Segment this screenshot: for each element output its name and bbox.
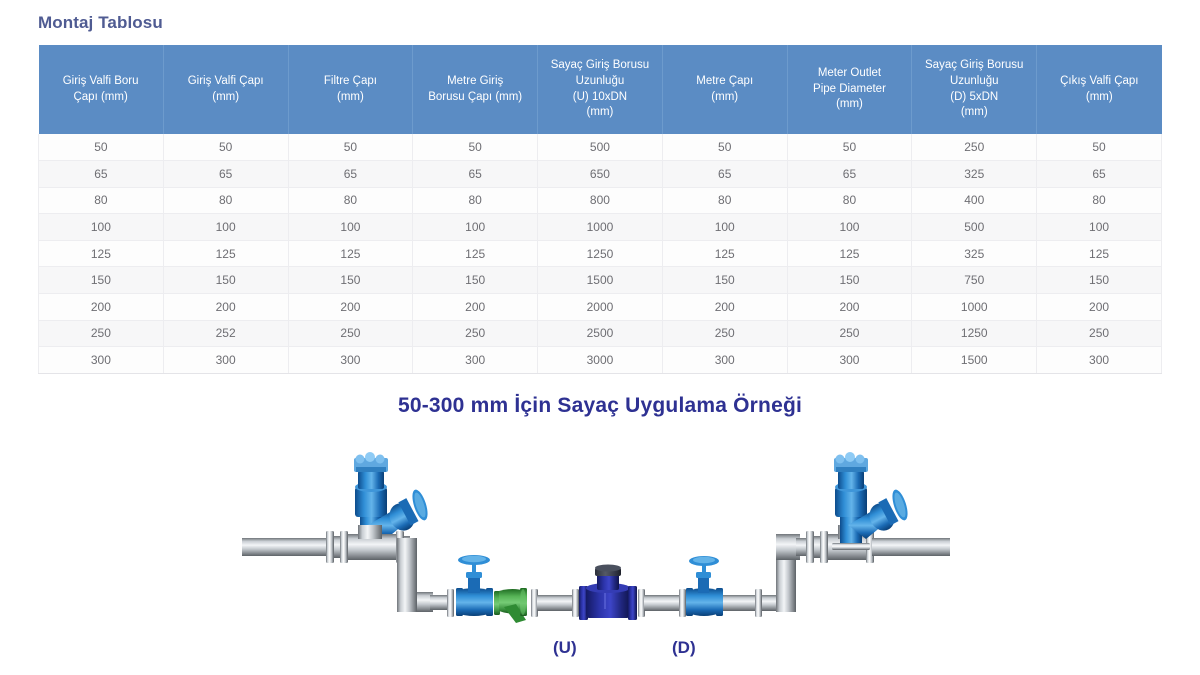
table-cell: 65 xyxy=(39,161,164,188)
col-header-giris-valfi-capi: Giriş Valfi Çapı(mm) xyxy=(163,45,288,134)
table-cell: 100 xyxy=(39,214,164,241)
table-cell: 325 xyxy=(912,161,1037,188)
left-vertical-drop-pipe xyxy=(397,538,433,612)
col-header-sayac-giris-borusu-d: Sayaç Giriş BorusuUzunluğu(D) 5xDN(mm) xyxy=(912,45,1037,134)
table-cell: 80 xyxy=(39,187,164,214)
table-cell: 1000 xyxy=(912,294,1037,321)
col-header-metre-capi: Metre Çapı(mm) xyxy=(662,45,787,134)
table-cell: 150 xyxy=(163,267,288,294)
table-cell: 50 xyxy=(288,134,413,161)
col-header-cikis-valfi-capi: Çıkış Valfi Çapı(mm) xyxy=(1037,45,1162,134)
table-cell: 80 xyxy=(163,187,288,214)
meter-installation-diagram xyxy=(0,425,1200,675)
table-cell: 100 xyxy=(1037,214,1162,241)
table-cell: 100 xyxy=(288,214,413,241)
table-cell: 250 xyxy=(912,134,1037,161)
table-cell: 125 xyxy=(787,240,912,267)
table-cell: 100 xyxy=(163,214,288,241)
montaj-table-container: Giriş Valfi BoruÇapı (mm) Giriş Valfi Ça… xyxy=(38,45,1162,374)
col-header-meter-outlet-pipe-diameter: Meter OutletPipe Diameter(mm) xyxy=(787,45,912,134)
col-header-metre-giris-borusu-capi: Metre GirişBorusu Çapı (mm) xyxy=(413,45,538,134)
upstream-spool-pipe-u xyxy=(531,589,579,617)
table-cell: 50 xyxy=(1037,134,1162,161)
table-cell: 250 xyxy=(662,320,787,347)
table-cell: 80 xyxy=(787,187,912,214)
table-cell: 200 xyxy=(288,294,413,321)
table-cell: 50 xyxy=(163,134,288,161)
outlet-gate-valve xyxy=(686,556,723,616)
table-cell: 1000 xyxy=(538,214,663,241)
diagram-title: 50-300 mm İçin Sayaç Uygulama Örneği xyxy=(0,394,1200,418)
table-row: 1501501501501500150150750150 xyxy=(39,267,1162,294)
table-cell: 250 xyxy=(39,320,164,347)
table-cell: 200 xyxy=(662,294,787,321)
table-cell: 250 xyxy=(1037,320,1162,347)
table-cell: 325 xyxy=(912,240,1037,267)
table-cell: 80 xyxy=(1037,187,1162,214)
table-cell: 1250 xyxy=(538,240,663,267)
table-cell: 200 xyxy=(163,294,288,321)
bottom-run-left-pipe xyxy=(430,589,454,617)
table-row: 80808080800808040080 xyxy=(39,187,1162,214)
table-cell: 100 xyxy=(662,214,787,241)
table-cell: 750 xyxy=(912,267,1037,294)
col-header-filtre-capi: Filtre Çapı(mm) xyxy=(288,45,413,134)
table-cell: 150 xyxy=(787,267,912,294)
page-title: Montaj Tablosu xyxy=(38,13,163,33)
table-row: 30030030030030003003001500300 xyxy=(39,347,1162,374)
table-header-row: Giriş Valfi BoruÇapı (mm) Giriş Valfi Ça… xyxy=(39,45,1162,134)
table-row: 25025225025025002502501250250 xyxy=(39,320,1162,347)
table-cell: 250 xyxy=(413,320,538,347)
montaj-tablosu-page: Montaj Tablosu Giriş Valfi BoruÇapı (mm)… xyxy=(0,0,1200,675)
table-cell: 80 xyxy=(413,187,538,214)
table-cell: 300 xyxy=(1037,347,1162,374)
table-cell: 200 xyxy=(413,294,538,321)
table-cell: 125 xyxy=(288,240,413,267)
table-cell: 300 xyxy=(662,347,787,374)
table-cell: 1250 xyxy=(912,320,1037,347)
table-cell: 2500 xyxy=(538,320,663,347)
table-cell: 125 xyxy=(413,240,538,267)
table-cell: 150 xyxy=(413,267,538,294)
table-row: 1001001001001000100100500100 xyxy=(39,214,1162,241)
table-cell: 200 xyxy=(39,294,164,321)
label-upstream-u: (U) xyxy=(553,638,577,658)
outlet-pipe xyxy=(872,538,950,556)
inlet-pipe xyxy=(242,531,348,563)
table-cell: 250 xyxy=(288,320,413,347)
table-cell: 250 xyxy=(787,320,912,347)
table-cell: 65 xyxy=(662,161,787,188)
table-cell: 150 xyxy=(39,267,164,294)
table-cell: 200 xyxy=(787,294,912,321)
table-cell: 65 xyxy=(787,161,912,188)
table-cell: 800 xyxy=(538,187,663,214)
table-body: 5050505050050502505065656565650656532565… xyxy=(39,134,1162,373)
table-cell: 125 xyxy=(39,240,164,267)
table-cell: 650 xyxy=(538,161,663,188)
table-cell: 65 xyxy=(288,161,413,188)
table-cell: 150 xyxy=(1037,267,1162,294)
y-strainer xyxy=(494,588,527,623)
montaj-table: Giriş Valfi BoruÇapı (mm) Giriş Valfi Ça… xyxy=(38,45,1162,374)
table-cell: 100 xyxy=(413,214,538,241)
water-meter xyxy=(579,565,637,621)
table-cell: 200 xyxy=(1037,294,1162,321)
table-cell: 50 xyxy=(413,134,538,161)
table-cell: 65 xyxy=(163,161,288,188)
table-cell: 300 xyxy=(288,347,413,374)
table-cell: 65 xyxy=(1037,161,1162,188)
table-cell: 80 xyxy=(288,187,413,214)
label-downstream-d: (D) xyxy=(672,638,696,658)
table-cell: 100 xyxy=(787,214,912,241)
table-header: Giriş Valfi BoruÇapı (mm) Giriş Valfi Ça… xyxy=(39,45,1162,134)
table-cell: 125 xyxy=(662,240,787,267)
table-cell: 1500 xyxy=(538,267,663,294)
table-cell: 50 xyxy=(662,134,787,161)
table-cell: 125 xyxy=(1037,240,1162,267)
col-header-giris-valfi-boru-capi: Giriş Valfi BoruÇapı (mm) xyxy=(39,45,164,134)
table-cell: 3000 xyxy=(538,347,663,374)
table-cell: 252 xyxy=(163,320,288,347)
col-header-sayac-giris-borusu-u: Sayaç Giriş BorusuUzunluğu(U) 10xDN(mm) xyxy=(538,45,663,134)
table-cell: 400 xyxy=(912,187,1037,214)
table-cell: 50 xyxy=(39,134,164,161)
downstream-spool-pipe-d xyxy=(638,589,686,617)
table-cell: 300 xyxy=(413,347,538,374)
table-cell: 300 xyxy=(787,347,912,374)
table-cell: 300 xyxy=(39,347,164,374)
table-row: 20020020020020002002001000200 xyxy=(39,294,1162,321)
table-cell: 65 xyxy=(413,161,538,188)
table-cell: 80 xyxy=(662,187,787,214)
table-cell: 500 xyxy=(538,134,663,161)
gate-valve xyxy=(456,555,493,616)
table-cell: 1500 xyxy=(912,347,1037,374)
table-row: 65656565650656532565 xyxy=(39,161,1162,188)
table-cell: 50 xyxy=(787,134,912,161)
table-cell: 500 xyxy=(912,214,1037,241)
table-row: 50505050500505025050 xyxy=(39,134,1162,161)
table-cell: 125 xyxy=(163,240,288,267)
table-cell: 150 xyxy=(662,267,787,294)
table-cell: 2000 xyxy=(538,294,663,321)
table-cell: 300 xyxy=(163,347,288,374)
table-row: 1251251251251250125125325125 xyxy=(39,240,1162,267)
table-cell: 150 xyxy=(288,267,413,294)
